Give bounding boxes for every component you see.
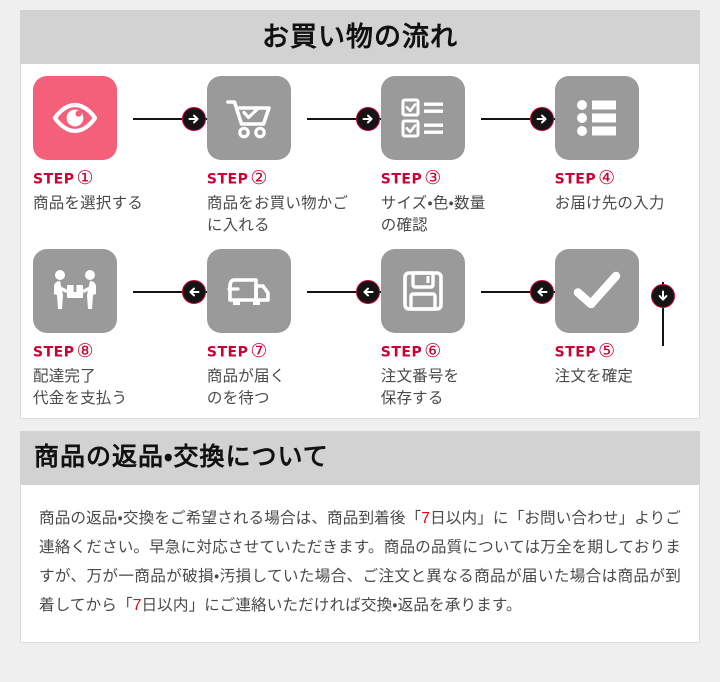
- arrow-right-badge-2-3: [356, 107, 380, 131]
- handover-package-icon: [46, 262, 104, 320]
- policy-panel: 商品の返品・交換をご希望される場合は、商品到着後「7日以内」に「お問い合わせ」よ…: [20, 485, 700, 643]
- arrow-down-badge-4-5: [651, 284, 675, 308]
- step-2-line-1: 商品をお買い物かご: [207, 193, 351, 215]
- step-8-line-2: 代金を支払う: [33, 388, 177, 410]
- step-7-label: STEP⑦: [207, 343, 351, 362]
- step-1-text: 商品を選択する: [33, 193, 177, 215]
- step-5-word: STEP: [555, 345, 596, 361]
- arrow-left-icon: [361, 285, 375, 299]
- flow-steps-panel: STEP① 商品を選択する: [20, 64, 700, 419]
- step-8-line-1: 配達完了: [33, 366, 177, 388]
- step-3-text: サイズ・色・数量 の確認: [381, 193, 525, 237]
- policy-highlight-text: 7: [421, 510, 430, 527]
- flow-section-title: お買い物の流れ: [20, 10, 700, 64]
- arrow-right-badge-1-2: [182, 107, 206, 131]
- step-2-label: STEP②: [207, 170, 351, 189]
- step-8-text: 配達完了 代金を支払う: [33, 366, 177, 410]
- connector-6-7: [351, 249, 368, 410]
- steps-row-top: STEP① 商品を選択する: [21, 76, 699, 237]
- step-5-number: ⑤: [598, 340, 615, 362]
- connector-1-2: [177, 76, 194, 237]
- bulleted-list-icon: [570, 91, 624, 145]
- step-6-line-2: 保存する: [381, 388, 525, 410]
- step-7-line-2: のを待つ: [207, 388, 351, 410]
- checklist-icon: [395, 90, 451, 146]
- step-2-line-2: に入れる: [207, 215, 351, 237]
- step-card-5[interactable]: STEP⑤ 注文を確定: [543, 249, 699, 410]
- arrow-right-badge-3-4: [530, 107, 554, 131]
- step-card-1[interactable]: STEP① 商品を選択する: [21, 76, 177, 237]
- step-7-word: STEP: [207, 345, 248, 361]
- eye-icon: [46, 89, 104, 147]
- step-4-line-1: お届け先の入力: [555, 193, 699, 215]
- step-1-tile: [33, 76, 117, 160]
- step-3-word: STEP: [381, 172, 422, 188]
- arrow-right-icon: [187, 112, 201, 126]
- step-1-label: STEP①: [33, 170, 177, 189]
- delivery-truck-icon: [220, 262, 278, 320]
- step-8-tile: [33, 249, 117, 333]
- connector-3-4: [525, 76, 542, 237]
- shopping-flow-page: お買い物の流れ STEP① 商品を選択する: [0, 10, 720, 682]
- step-1-word: STEP: [33, 172, 74, 188]
- step-card-2[interactable]: STEP② 商品をお買い物かご に入れる: [195, 76, 351, 237]
- step-8-word: STEP: [33, 345, 74, 361]
- policy-plain-text: 日以内」にご連絡いただければ交換・返品を承ります。: [141, 597, 521, 614]
- step-3-label: STEP③: [381, 170, 525, 189]
- step-6-word: STEP: [381, 345, 422, 361]
- floppy-disk-save-icon: [396, 264, 450, 318]
- step-4-tile: [555, 76, 639, 160]
- step-8-number: ⑧: [76, 340, 93, 362]
- step-3-number: ③: [424, 167, 441, 189]
- step-3-line-2: の確認: [381, 215, 525, 237]
- step-card-4[interactable]: STEP④ お届け先の入力: [543, 76, 699, 237]
- step-card-7[interactable]: STEP⑦ 商品が届く のを待つ: [195, 249, 351, 410]
- arrow-down-icon: [656, 289, 670, 303]
- step-4-number: ④: [598, 167, 615, 189]
- step-2-tile: [207, 76, 291, 160]
- step-4-label: STEP④: [555, 170, 699, 189]
- step-1-line-1: 商品を選択する: [33, 193, 177, 215]
- step-1-number: ①: [76, 167, 93, 189]
- step-7-text: 商品が届く のを待つ: [207, 366, 351, 410]
- arrow-left-icon: [187, 285, 201, 299]
- connector-5-6: [525, 249, 542, 410]
- step-4-text: お届け先の入力: [555, 193, 699, 215]
- step-6-label: STEP⑥: [381, 343, 525, 362]
- arrow-right-icon: [361, 112, 375, 126]
- step-card-8[interactable]: STEP⑧ 配達完了 代金を支払う: [21, 249, 177, 410]
- arrow-left-badge-5-6: [530, 280, 554, 304]
- step-2-text: 商品をお買い物かご に入れる: [207, 193, 351, 237]
- step-8-label: STEP⑧: [33, 343, 177, 362]
- step-card-3[interactable]: STEP③ サイズ・色・数量 の確認: [369, 76, 525, 237]
- checkmark-icon: [569, 263, 625, 319]
- shopping-cart-icon: [220, 89, 278, 147]
- step-7-tile: [207, 249, 291, 333]
- step-6-number: ⑥: [424, 340, 441, 362]
- step-7-number: ⑦: [250, 340, 267, 362]
- step-5-label: STEP⑤: [555, 343, 699, 362]
- policy-plain-text: 商品の返品・交換をご希望される場合は、商品到着後「: [39, 510, 421, 527]
- step-card-6[interactable]: STEP⑥ 注文番号を 保存する: [369, 249, 525, 410]
- arrow-left-badge-6-7: [356, 280, 380, 304]
- step-2-word: STEP: [207, 172, 248, 188]
- arrow-left-icon: [535, 285, 549, 299]
- step-5-text: 注文を確定: [555, 366, 699, 388]
- policy-body-text: 商品の返品・交換をご希望される場合は、商品到着後「7日以内」に「お問い合わせ」よ…: [21, 485, 699, 642]
- connector-2-3: [351, 76, 368, 237]
- step-7-line-1: 商品が届く: [207, 366, 351, 388]
- arrow-right-icon: [535, 112, 549, 126]
- steps-row-bottom: STEP⑧ 配達完了 代金を支払う: [21, 249, 699, 410]
- step-5-line-1: 注文を確定: [555, 366, 699, 388]
- policy-section-title: 商品の返品・交換について: [20, 431, 700, 485]
- step-3-line-1: サイズ・色・数量: [381, 193, 525, 215]
- step-6-tile: [381, 249, 465, 333]
- step-5-tile: [555, 249, 639, 333]
- connector-7-8: [177, 249, 194, 410]
- arrow-left-badge-7-8: [182, 280, 206, 304]
- step-3-tile: [381, 76, 465, 160]
- step-2-number: ②: [250, 167, 267, 189]
- step-6-line-1: 注文番号を: [381, 366, 525, 388]
- step-4-word: STEP: [555, 172, 596, 188]
- step-6-text: 注文番号を 保存する: [381, 366, 525, 410]
